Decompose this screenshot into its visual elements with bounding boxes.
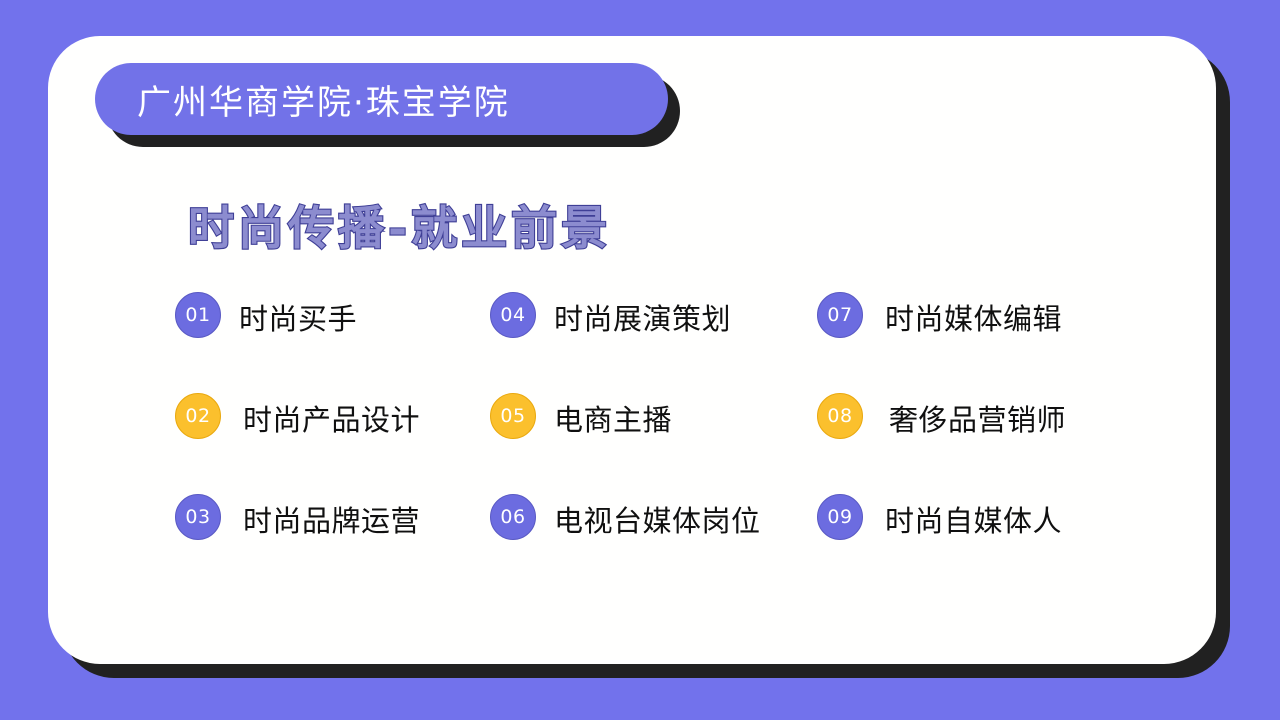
list-item[interactable]: 09 时尚自媒体人 bbox=[817, 494, 1117, 595]
item-number-badge: 03 bbox=[175, 494, 221, 540]
item-number-badge: 07 bbox=[817, 292, 863, 338]
list-item[interactable]: 02 时尚产品设计 bbox=[175, 393, 490, 494]
item-number-badge: 08 bbox=[817, 393, 863, 439]
item-label: 奢侈品营销师 bbox=[889, 397, 1066, 439]
item-number-badge: 06 bbox=[490, 494, 536, 540]
item-number-badge: 09 bbox=[817, 494, 863, 540]
item-label: 时尚展演策划 bbox=[554, 296, 731, 338]
item-label: 时尚品牌运营 bbox=[243, 498, 420, 540]
list-item[interactable]: 08 奢侈品营销师 bbox=[817, 393, 1117, 494]
item-number-badge: 01 bbox=[175, 292, 221, 338]
header-pill-label: 广州华商学院·珠宝学院 bbox=[137, 75, 510, 124]
career-items-grid: 01 时尚买手 02 时尚产品设计 03 时尚品牌运营 04 时尚展演策划 05… bbox=[175, 292, 1125, 595]
list-item[interactable]: 07 时尚媒体编辑 bbox=[817, 292, 1117, 393]
list-item[interactable]: 04 时尚展演策划 bbox=[490, 292, 817, 393]
item-number-badge: 02 bbox=[175, 393, 221, 439]
list-item[interactable]: 03 时尚品牌运营 bbox=[175, 494, 490, 595]
item-label: 时尚自媒体人 bbox=[885, 498, 1062, 540]
item-label: 电视台媒体岗位 bbox=[554, 498, 761, 540]
item-number-badge: 05 bbox=[490, 393, 536, 439]
list-item[interactable]: 01 时尚买手 bbox=[175, 292, 490, 393]
list-item[interactable]: 05 电商主播 bbox=[490, 393, 817, 494]
item-label: 电商主播 bbox=[554, 397, 672, 439]
item-number-badge: 04 bbox=[490, 292, 536, 338]
page-title: 时尚传播-就业前景 bbox=[188, 192, 611, 258]
list-item[interactable]: 06 电视台媒体岗位 bbox=[490, 494, 817, 595]
item-label: 时尚媒体编辑 bbox=[885, 296, 1062, 338]
item-label: 时尚买手 bbox=[239, 296, 357, 338]
item-label: 时尚产品设计 bbox=[243, 397, 420, 439]
header-pill[interactable]: 广州华商学院·珠宝学院 bbox=[95, 63, 668, 135]
